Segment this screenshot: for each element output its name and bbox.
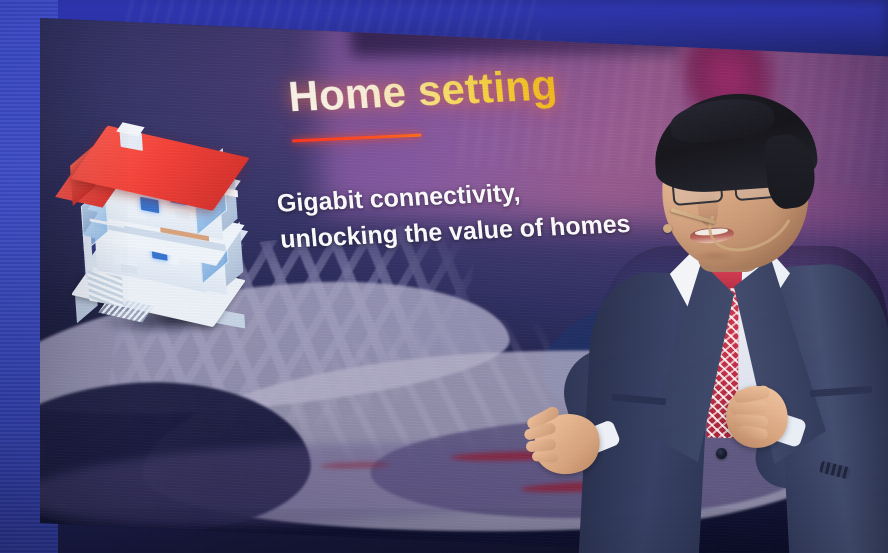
slide-title-underline (292, 134, 422, 143)
speaker-figure (520, 96, 888, 553)
speaker-left-finger-4 (532, 451, 559, 463)
slide-title: Home setting (286, 61, 559, 121)
headset-mic-capsule (663, 224, 672, 233)
keynote-photo: Home setting Gigabit connectivity, unloc… (0, 0, 888, 553)
speaker-jacket-button (716, 448, 727, 459)
